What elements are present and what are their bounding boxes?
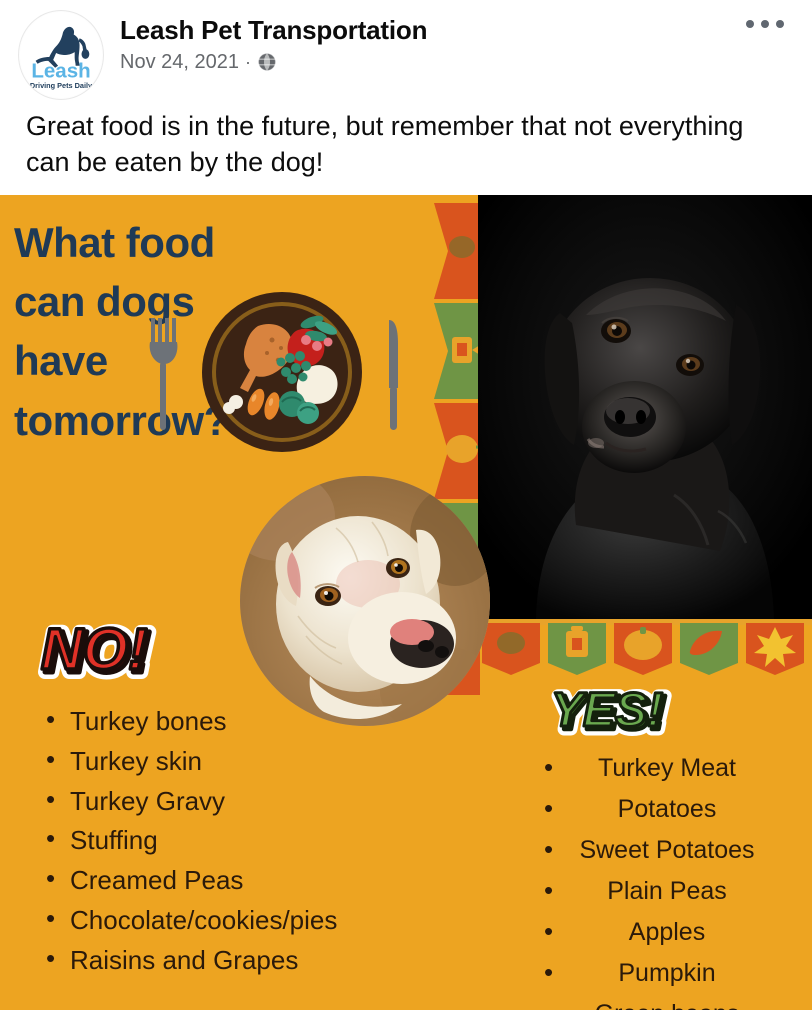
- no-badge-text: NO!: [41, 617, 147, 682]
- list-item: Raisins and Grapes: [40, 944, 420, 978]
- more-options-button[interactable]: [740, 14, 790, 34]
- no-badge: NO! NO! NO!: [36, 610, 186, 695]
- page-title[interactable]: Leash Pet Transportation: [120, 16, 427, 46]
- list-item: Chocolate/cookies/pies: [40, 904, 420, 938]
- yes-badge-text: YES!: [551, 684, 663, 737]
- list-item: Plain Peas: [510, 875, 802, 908]
- yes-food-list: Turkey Meat Potatoes Sweet Potatoes Plai…: [510, 752, 802, 1010]
- list-item: Sweet Potatoes: [510, 834, 802, 867]
- avatar[interactable]: Leash Driving Pets Daily: [18, 10, 104, 100]
- list-item: Creamed Peas: [40, 864, 420, 898]
- globe-icon[interactable]: [257, 52, 277, 72]
- svg-text:Leash: Leash: [31, 59, 90, 82]
- list-item: Potatoes: [510, 793, 802, 826]
- meta-separator: ·: [245, 52, 251, 73]
- list-item: Turkey bones: [40, 705, 420, 739]
- list-item: Turkey skin: [40, 745, 420, 779]
- post-date[interactable]: Nov 24, 2021: [120, 51, 239, 74]
- post-body: Great food is in the future, but remembe…: [0, 100, 812, 194]
- leash-logo-icon: Leash Driving Pets Daily: [19, 10, 103, 100]
- ellipsis-dot: [761, 20, 769, 28]
- black-labrador-photo: [478, 195, 812, 619]
- svg-text:Driving Pets Daily: Driving Pets Daily: [30, 81, 93, 90]
- thanksgiving-plate-icon: [140, 280, 415, 465]
- list-item: Pumpkin: [510, 957, 802, 990]
- list-item: Turkey Gravy: [40, 785, 420, 819]
- list-item: Stuffing: [40, 824, 420, 858]
- yes-badge: YES! YES! YES!: [546, 677, 698, 749]
- ellipsis-dot: [776, 20, 784, 28]
- fall-bunting-horizontal-icon: [478, 619, 812, 681]
- post-image[interactable]: What food can dogs have tomorrow?: [0, 195, 812, 1010]
- post-header: Leash Driving Pets Daily Leash Pet Trans…: [0, 0, 812, 100]
- facebook-post: Leash Driving Pets Daily Leash Pet Trans…: [0, 0, 812, 1024]
- no-food-list: Turkey bones Turkey skin Turkey Gravy St…: [40, 705, 420, 984]
- list-item: Apples: [510, 916, 802, 949]
- header-text-block: Leash Pet Transportation Nov 24, 2021 ·: [120, 10, 427, 74]
- white-dog-circular-photo: [240, 476, 490, 726]
- list-item: Turkey Meat: [510, 752, 802, 785]
- ellipsis-dot: [746, 20, 754, 28]
- post-meta: Nov 24, 2021 ·: [120, 51, 427, 74]
- list-item: Green beans: [510, 998, 802, 1010]
- post-text: Great food is in the future, but remembe…: [26, 108, 790, 180]
- footer-strip: [0, 1010, 812, 1024]
